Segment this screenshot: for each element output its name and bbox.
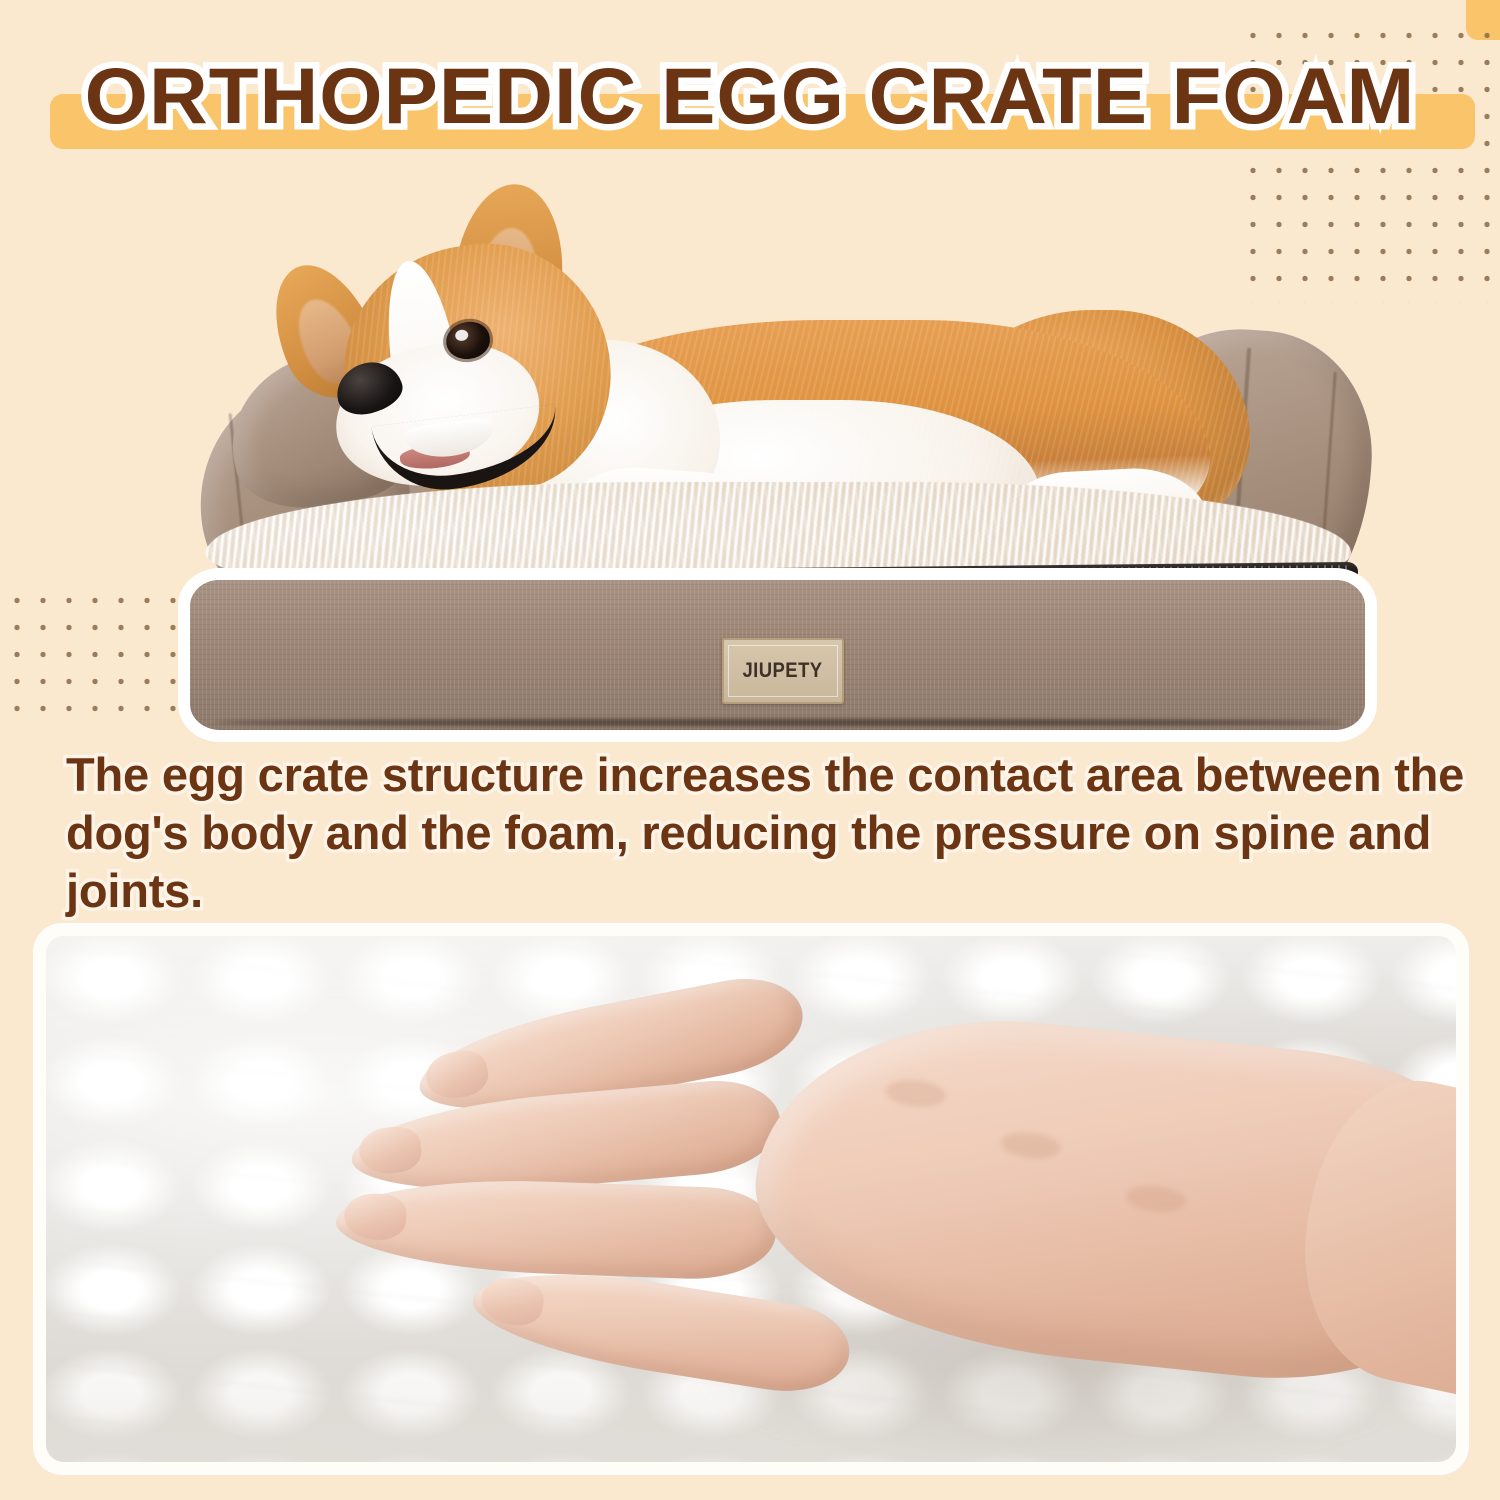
page-title: ORTHOPEDIC EGG CRATE FOAM	[0, 44, 1500, 148]
product-cutout: JIUPETY	[170, 160, 1370, 740]
fingernail	[478, 1274, 546, 1329]
headline-block: ORTHOPEDIC EGG CRATE FOAM	[0, 44, 1500, 152]
body-paragraph: The egg crate structure increases the co…	[66, 746, 1466, 920]
fingernail	[357, 1125, 423, 1176]
fingernail	[422, 1046, 492, 1103]
dog-eye-glint	[455, 329, 469, 342]
dot-pattern-bottom-left	[0, 583, 185, 728]
brand-label-patch: JIUPETY	[722, 638, 844, 704]
brand-name: JIUPETY	[743, 659, 823, 683]
finger-ring	[335, 1174, 778, 1281]
hero-product-image: JIUPETY	[170, 160, 1370, 740]
infographic-stage: ORTHOPEDIC EGG CRATE FOAM	[0, 0, 1500, 1500]
foam-closeup-panel	[36, 926, 1466, 1472]
fingernail	[344, 1193, 408, 1241]
hand-pressing-foam	[326, 954, 1456, 1462]
foam-closeup-photo	[46, 936, 1456, 1462]
